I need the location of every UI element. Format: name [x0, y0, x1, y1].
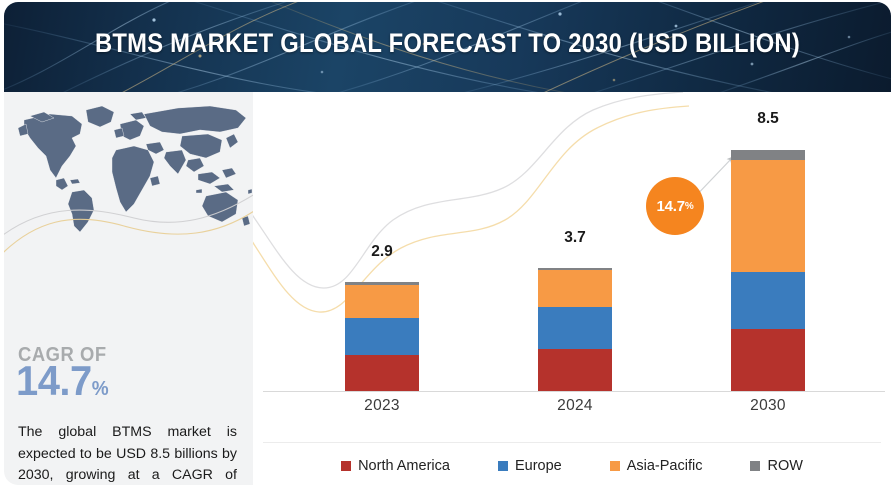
bar-segment-north-america: [345, 355, 419, 391]
bar-segment-row: [731, 150, 805, 160]
bubble-number: 14.7: [656, 198, 684, 215]
legend-swatch-icon: [498, 461, 508, 471]
legend-swatch-icon: [610, 461, 620, 471]
infographic-root: BTMS MARKET GLOBAL FORECAST TO 2030 (USD…: [0, 0, 895, 489]
bar-total-label-2030: 8.5: [731, 110, 805, 128]
legend-item-asia-pacific[interactable]: Asia-Pacific: [610, 458, 703, 474]
chart-legend: North AmericaEuropeAsia-PacificROW: [253, 447, 891, 485]
bar-segment-europe: [345, 318, 419, 355]
bubble-percent-symbol: %: [685, 201, 694, 212]
legend-label: North America: [358, 458, 450, 474]
x-axis-label-2030: 2030: [731, 397, 805, 415]
bar-segment-asia-pacific: [731, 160, 805, 272]
legend-item-europe[interactable]: Europe: [498, 458, 562, 474]
legend-item-north-america[interactable]: North America: [341, 458, 450, 474]
bar-segment-asia-pacific: [345, 285, 419, 318]
bar-segment-north-america: [731, 329, 805, 391]
legend-swatch-icon: [341, 461, 351, 471]
legend-item-row[interactable]: ROW: [750, 458, 802, 474]
body-frame: CAGR OF 14.7% The global BTMS market is …: [4, 92, 891, 485]
header-banner: BTMS MARKET GLOBAL FORECAST TO 2030 (USD…: [4, 2, 891, 92]
cagr-value: 14.7%: [16, 360, 109, 402]
x-axis-line: [263, 391, 885, 392]
decorative-curves-left: [4, 92, 253, 342]
bar-2024: [538, 268, 612, 391]
bar-2023: [345, 282, 419, 391]
bar-2030: [731, 150, 805, 391]
cagr-percent-symbol: %: [92, 378, 109, 400]
bar-segment-europe: [538, 307, 612, 349]
legend-separator: [263, 442, 881, 443]
legend-label: ROW: [767, 458, 802, 474]
legend-label: Asia-Pacific: [627, 458, 703, 474]
legend-label: Europe: [515, 458, 562, 474]
bar-total-label-2023: 2.9: [345, 243, 419, 261]
legend-swatch-icon: [750, 461, 760, 471]
bar-segment-europe: [731, 272, 805, 329]
cagr-number: 14.7: [16, 357, 92, 404]
bar-segment-asia-pacific: [538, 270, 612, 307]
x-axis-label-2023: 2023: [345, 397, 419, 415]
summary-description: The global BTMS market is expected to be…: [18, 422, 237, 485]
left-info-panel: CAGR OF 14.7% The global BTMS market is …: [4, 92, 253, 485]
bar-total-label-2024: 3.7: [538, 229, 612, 247]
x-axis-label-2024: 2024: [538, 397, 612, 415]
bar-segment-north-america: [538, 349, 612, 391]
bar-chart: 14.7% 2.920233.720248.52030: [253, 92, 891, 485]
cagr-callout-bubble: 14.7%: [646, 177, 704, 235]
page-title: BTMS MARKET GLOBAL FORECAST TO 2030 (USD…: [57, 28, 838, 59]
